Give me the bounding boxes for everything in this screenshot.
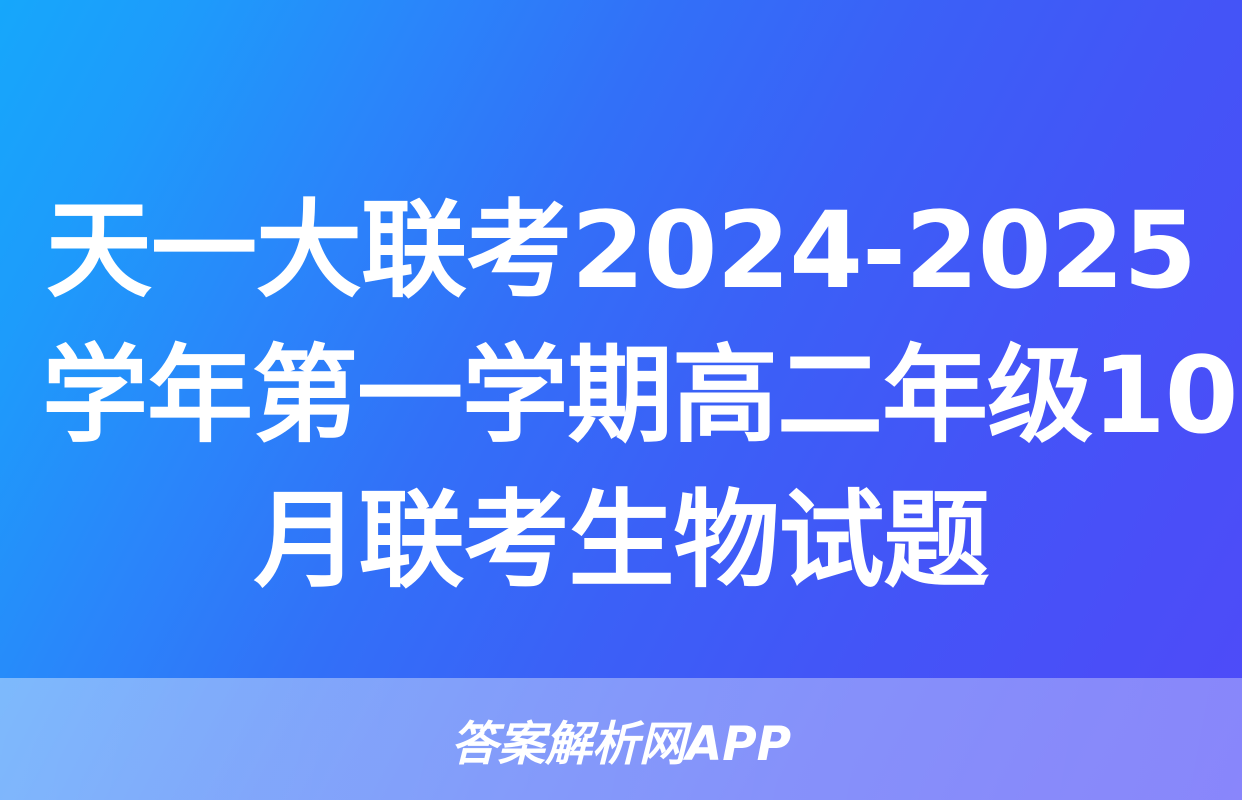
watermark-brand-label: 答案解析网APP [451,705,791,774]
title-line-3: 月联考生物试题 [42,468,1200,613]
page-title: 天一大联考2024-2025 学年第一学期高二年级10 月联考生物试题 [0,178,1242,613]
watermark-band: 答案解析网APP [0,678,1242,800]
title-line-2: 学年第一学期高二年级10 [42,323,1200,468]
exam-cover-banner: 天一大联考2024-2025 学年第一学期高二年级10 月联考生物试题 答案解析… [0,0,1242,800]
title-line-1: 天一大联考2024-2025 [42,178,1200,323]
